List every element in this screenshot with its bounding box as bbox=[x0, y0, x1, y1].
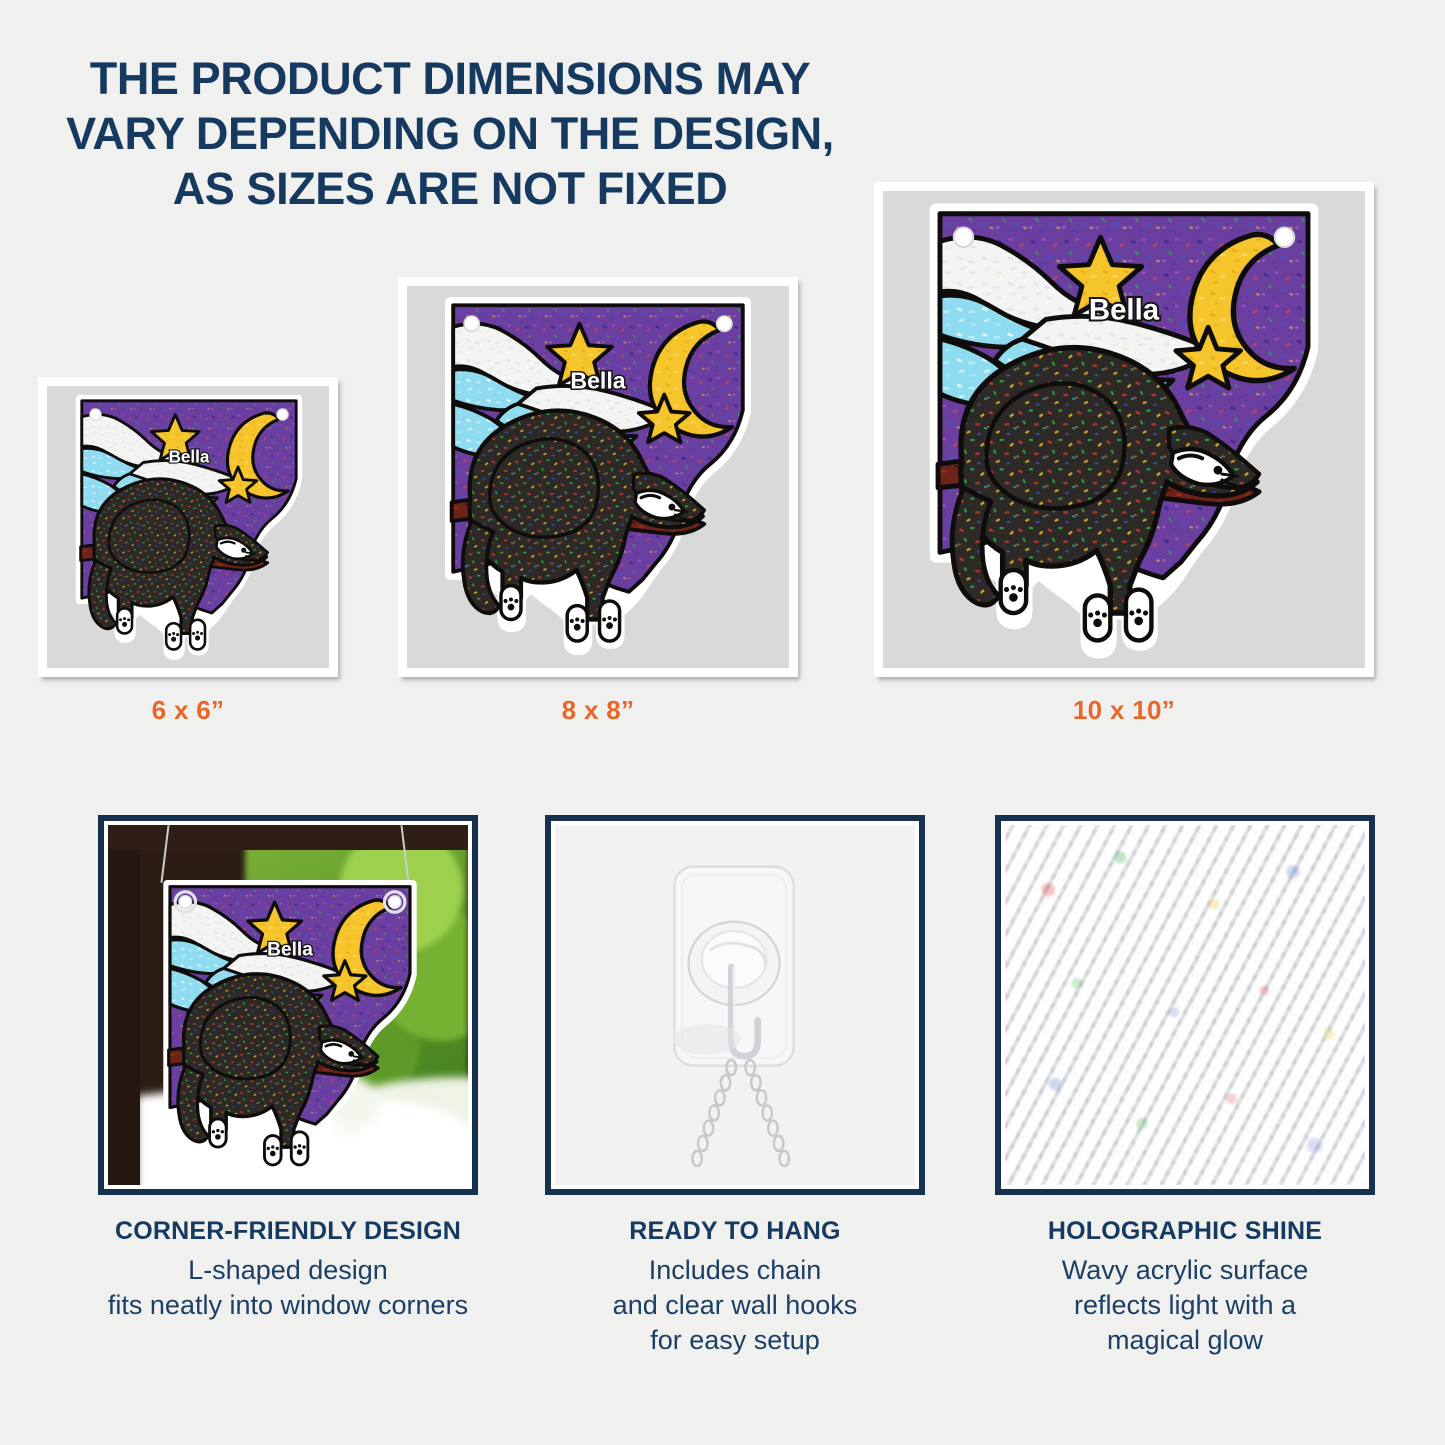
feature-2-body-line-3: for easy setup bbox=[545, 1323, 925, 1358]
page-title: THE PRODUCT DIMENSIONS MAY VARY DEPENDIN… bbox=[0, 52, 900, 217]
pet-name-text-6x6: Bella bbox=[169, 447, 210, 466]
pet-name-text-10x10: Bella bbox=[1089, 293, 1160, 326]
feature-2-body-line-1: Includes chain bbox=[545, 1253, 925, 1288]
feature-1-body-line-2: fits neatly into window corners bbox=[58, 1288, 518, 1323]
window-hanging-photo: Bella bbox=[98, 815, 478, 1195]
feature-3-body: Wavy acrylic surface reflects light with… bbox=[995, 1253, 1375, 1358]
page-title-line-1: THE PRODUCT DIMENSIONS MAY bbox=[0, 52, 900, 107]
feature-3-title: HOLOGRAPHIC SHINE bbox=[995, 1217, 1375, 1246]
window-hanging-photo-inner: Bella bbox=[108, 825, 468, 1185]
feature-corner-friendly-design: Bella CORNER-FRIENDLY DESIGN L-shaped de… bbox=[58, 815, 518, 1323]
page-title-line-3: AS SIZES ARE NOT FIXED bbox=[0, 162, 900, 217]
feature-3-body-line-1: Wavy acrylic surface bbox=[995, 1253, 1375, 1288]
size-swatch-8x8-panel: Bella bbox=[407, 286, 789, 668]
feature-1-body: L-shaped design fits neatly into window … bbox=[58, 1253, 518, 1323]
holographic-texture-photo-inner bbox=[1005, 825, 1365, 1185]
suncatcher-artwork-6x6: Bella bbox=[55, 394, 323, 662]
feature-1-title: CORNER-FRIENDLY DESIGN bbox=[58, 1217, 518, 1246]
window-scene: Bella bbox=[108, 825, 468, 1185]
suncatcher-artwork-10x10: Bella bbox=[894, 202, 1354, 662]
feature-3-body-line-3: magical glow bbox=[995, 1323, 1375, 1358]
feature-ready-to-hang: READY TO HANG Includes chain and clear w… bbox=[545, 815, 925, 1358]
size-swatch-10x10-panel: Bella bbox=[883, 191, 1365, 668]
feature-holographic-shine: HOLOGRAPHIC SHINE Wavy acrylic surface r… bbox=[995, 815, 1375, 1358]
size-swatch-6x6-panel: Bella bbox=[47, 386, 329, 668]
wall-hook-photo-inner bbox=[555, 825, 915, 1185]
feature-2-body: Includes chain and clear wall hooks for … bbox=[545, 1253, 925, 1358]
feature-2-body-line-2: and clear wall hooks bbox=[545, 1288, 925, 1323]
adhesive-hook-illustration bbox=[555, 825, 915, 1185]
window-frame-left bbox=[108, 825, 140, 1185]
holographic-acrylic-texture bbox=[1005, 825, 1365, 1185]
size-label-6x6: 6 x 6” bbox=[38, 695, 338, 726]
wall-hook-photo bbox=[545, 815, 925, 1195]
hanging-chain bbox=[692, 1060, 789, 1166]
feature-3-body-line-2: reflects light with a bbox=[995, 1288, 1375, 1323]
page-title-line-2: VARY DEPENDING ON THE DESIGN, bbox=[0, 107, 900, 162]
size-label-8x8: 8 x 8” bbox=[398, 695, 798, 726]
size-swatch-10x10: Bella bbox=[874, 182, 1374, 677]
suncatcher-artwork-in-window: Bella bbox=[140, 879, 440, 1179]
feature-2-title: READY TO HANG bbox=[545, 1217, 925, 1246]
pet-name-text-window: Bella bbox=[267, 940, 313, 961]
size-label-10x10: 10 x 10” bbox=[874, 695, 1374, 726]
window-frame-top bbox=[108, 825, 468, 850]
suncatcher-artwork-8x8: Bella bbox=[417, 296, 779, 658]
wall-background bbox=[555, 825, 915, 1185]
feature-1-body-line-1: L-shaped design bbox=[58, 1253, 518, 1288]
size-swatch-8x8: Bella bbox=[398, 277, 798, 677]
pet-name-text-8x8: Bella bbox=[570, 367, 625, 393]
size-swatch-6x6: Bella bbox=[38, 377, 338, 677]
holographic-texture-photo bbox=[995, 815, 1375, 1195]
